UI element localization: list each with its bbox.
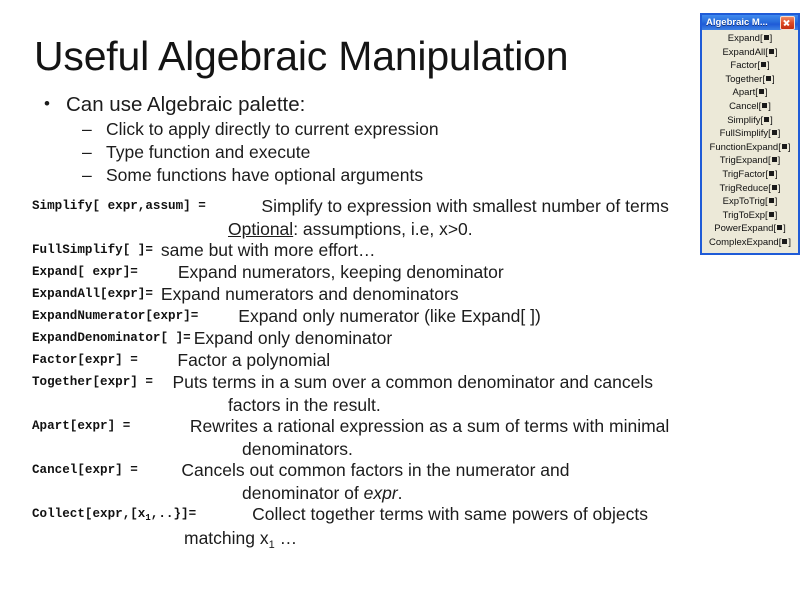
placeholder-slot-icon [762, 103, 767, 108]
palette-item-trigexpand[interactable]: TrigExpand[] [702, 154, 798, 168]
function-description: Simplify to expression with smallest num… [261, 196, 669, 217]
placeholder-slot-icon [769, 212, 774, 217]
function-row: Together[expr] = Puts terms in a sum ove… [32, 372, 772, 393]
palette-item-list: Expand[]ExpandAll[]Factor[]Together[]Apa… [702, 30, 798, 253]
palette-item-simplify[interactable]: Simplify[] [702, 114, 798, 128]
palette-item-bracket: ] [775, 210, 778, 221]
palette-item-bracket: ] [770, 33, 773, 44]
function-row: Collect[expr,[x1,..}]=Collect together t… [32, 504, 772, 526]
placeholder-slot-icon [759, 89, 764, 94]
palette-item-bracket: ] [767, 60, 770, 71]
palette-item-label: Simplify[ [727, 115, 763, 126]
function-signature: Collect[expr,[x1,..}]= [32, 504, 196, 526]
function-row: Cancel[expr] = Cancels out common factor… [32, 460, 772, 481]
placeholder-slot-icon [766, 76, 771, 81]
close-icon[interactable] [780, 16, 795, 30]
placeholder-slot-icon [769, 171, 774, 176]
palette-item-label: TrigExpand[ [720, 155, 771, 166]
bullet-level1: • Can use Algebraic palette: [40, 92, 680, 118]
placeholder-slot-icon [777, 225, 782, 230]
palette-item-label: TrigToExp[ [723, 210, 768, 221]
palette-item-expandall[interactable]: ExpandAll[] [702, 46, 798, 60]
palette-item-label: TrigFactor[ [722, 169, 768, 180]
bullet-list: • Can use Algebraic palette: – Click to … [40, 92, 680, 187]
palette-item-label: Expand[ [728, 33, 763, 44]
function-description: Factor a polynomial [177, 350, 330, 371]
algebraic-manipulation-palette[interactable]: Algebraic M... Expand[]ExpandAll[]Factor… [700, 13, 800, 255]
function-description-continuation: factors in the result. [32, 394, 772, 416]
placeholder-slot-icon [769, 198, 774, 203]
palette-item-powerexpand[interactable]: PowerExpand[] [702, 222, 798, 236]
function-description: Rewrites a rational expression as a sum … [190, 416, 669, 437]
palette-item-bracket: ] [778, 155, 781, 166]
palette-title-bar[interactable]: Algebraic M... [700, 13, 800, 30]
placeholder-slot-icon [761, 62, 766, 67]
palette-item-label: Cancel[ [729, 101, 761, 112]
palette-item-together[interactable]: Together[] [702, 73, 798, 87]
palette-item-bracket: ] [768, 101, 771, 112]
page-title: Useful Algebraic Manipulation [34, 34, 734, 78]
function-description: Expand numerators, keeping denominator [178, 262, 504, 283]
function-row: Expand[ expr]=Expand numerators, keeping… [32, 262, 772, 283]
palette-item-trigfactor[interactable]: TrigFactor[] [702, 168, 798, 182]
dash-icon: – [82, 141, 92, 164]
slide-canvas: Useful Algebraic Manipulation • Can use … [0, 0, 800, 600]
palette-item-bracket: ] [788, 237, 791, 248]
function-row: Simplify[ expr,assum] = Simplify to expr… [32, 196, 772, 217]
palette-item-functionexpand[interactable]: FunctionExpand[] [702, 141, 798, 155]
function-description: Expand only numerator (like Expand[ ]) [238, 306, 541, 327]
palette-item-bracket: ] [778, 128, 781, 139]
function-row: ExpandDenominator[ ]=Expand only denomin… [32, 328, 772, 349]
function-description: same but with more effort… [161, 240, 376, 261]
palette-item-label: PowerExpand[ [714, 223, 776, 234]
function-description: Expand only denominator [194, 328, 392, 349]
placeholder-slot-icon [772, 157, 777, 162]
palette-item-complexexpand[interactable]: ComplexExpand[] [702, 236, 798, 250]
palette-item-trigtoexp[interactable]: TrigToExp[] [702, 209, 798, 223]
function-description-continuation: Optional: assumptions, i.e, x>0. [32, 218, 772, 240]
function-row: Factor[expr] = Factor a polynomial [32, 350, 772, 371]
palette-item-label: ExpToTrig[ [723, 196, 768, 207]
placeholder-slot-icon [764, 35, 769, 40]
function-description: Collect together terms with same powers … [252, 504, 648, 525]
dash-icon: – [82, 164, 92, 187]
palette-item-bracket: ] [783, 223, 786, 234]
palette-item-label: FullSimplify[ [720, 128, 771, 139]
function-signature: FullSimplify[ ]= [32, 240, 153, 261]
function-description-continuation: denominators. [32, 438, 772, 460]
palette-item-label: FunctionExpand[ [710, 142, 781, 153]
bullet-level2-text: Type function and execute [106, 142, 310, 162]
palette-item-bracket: ] [775, 169, 778, 180]
function-signature: Simplify[ expr,assum] = [32, 196, 213, 217]
palette-item-label: Factor[ [730, 60, 760, 71]
palette-item-factor[interactable]: Factor[] [702, 59, 798, 73]
palette-item-exptotrig[interactable]: ExpToTrig[] [702, 195, 798, 209]
function-description-continuation: denominator of expr. [32, 482, 772, 504]
bullet-level2-text: Some functions have optional arguments [106, 165, 423, 185]
function-signature: ExpandDenominator[ ]= [32, 328, 191, 349]
placeholder-slot-icon [772, 185, 777, 190]
bullet-level2-2: – Type function and execute [40, 141, 680, 164]
function-signature: Apart[expr] = [32, 416, 138, 437]
function-signature: ExpandAll[expr]= [32, 284, 153, 305]
palette-item-bracket: ] [778, 183, 781, 194]
palette-item-label: ComplexExpand[ [709, 237, 781, 248]
function-row: ExpandNumerator[expr]=Expand only numera… [32, 306, 772, 327]
palette-item-apart[interactable]: Apart[] [702, 86, 798, 100]
placeholder-slot-icon [782, 239, 787, 244]
dash-icon: – [82, 118, 92, 141]
palette-title: Algebraic M... [706, 15, 780, 30]
palette-item-bracket: ] [775, 196, 778, 207]
function-description: Cancels out common factors in the numera… [181, 460, 569, 481]
palette-item-bracket: ] [775, 47, 778, 58]
bullet-level2-text: Click to apply directly to current expre… [106, 119, 439, 139]
palette-item-bracket: ] [772, 74, 775, 85]
function-row: FullSimplify[ ]=same but with more effor… [32, 240, 772, 261]
palette-item-fullsimplify[interactable]: FullSimplify[] [702, 127, 798, 141]
function-description: Puts terms in a sum over a common denomi… [172, 372, 653, 393]
palette-item-bracket: ] [765, 87, 768, 98]
function-signature: Factor[expr] = [32, 350, 145, 371]
bullet-level2-1: – Click to apply directly to current exp… [40, 118, 680, 141]
function-signature: Together[expr] = [32, 372, 160, 393]
function-signature: Expand[ expr]= [32, 262, 138, 283]
function-signature: ExpandNumerator[expr]= [32, 306, 198, 327]
function-reference-list: Simplify[ expr,assum] = Simplify to expr… [32, 196, 772, 552]
placeholder-slot-icon [772, 130, 777, 135]
palette-item-label: Together[ [725, 74, 765, 85]
placeholder-slot-icon [764, 117, 769, 122]
palette-item-bracket: ] [788, 142, 791, 153]
function-signature: Cancel[expr] = [32, 460, 145, 481]
palette-item-cancel[interactable]: Cancel[] [702, 100, 798, 114]
palette-item-bracket: ] [770, 115, 773, 126]
palette-item-trigreduce[interactable]: TrigReduce[] [702, 182, 798, 196]
palette-item-expand[interactable]: Expand[] [702, 32, 798, 46]
function-description: Expand numerators and denominators [161, 284, 459, 305]
palette-item-label: Apart[ [733, 87, 758, 98]
bullet-level1-text: Can use Algebraic palette: [66, 93, 305, 116]
function-description-continuation: matching x1 … [32, 527, 772, 552]
bullet-dot-icon: • [44, 91, 50, 117]
bullet-level2-3: – Some functions have optional arguments [40, 164, 680, 187]
placeholder-slot-icon [782, 144, 787, 149]
palette-item-label: ExpandAll[ [722, 47, 767, 58]
placeholder-slot-icon [769, 49, 774, 54]
palette-item-label: TrigReduce[ [719, 183, 770, 194]
function-row: Apart[expr] = Rewrites a rational expres… [32, 416, 772, 437]
function-row: ExpandAll[expr]=Expand numerators and de… [32, 284, 772, 305]
